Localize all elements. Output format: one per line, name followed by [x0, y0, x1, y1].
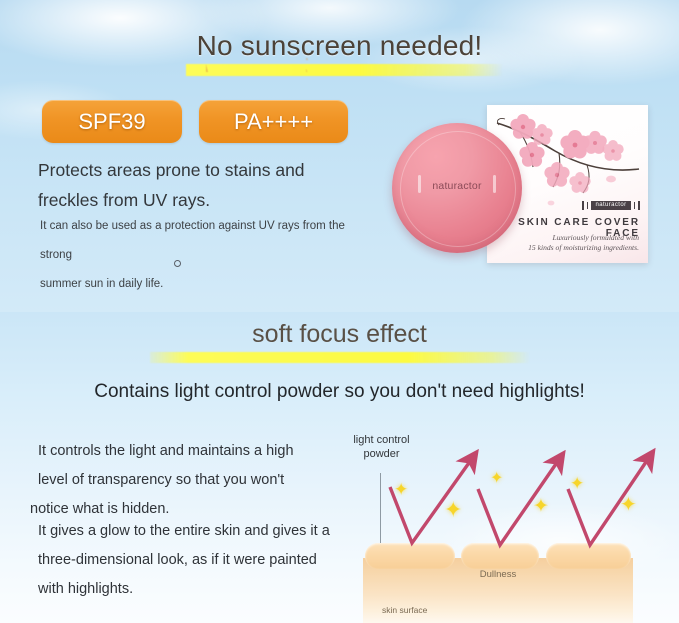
sparkle-icon-5: ✦: [570, 475, 584, 492]
logo-bar-left: [582, 201, 584, 210]
light-control-line-2: level of transparency so that you won't: [30, 466, 330, 495]
compact-tick-right: [493, 175, 496, 193]
uv-paragraph-line-2: freckles from UV rays.: [38, 185, 368, 215]
reflection-arrows: [330, 425, 679, 623]
promo-page: No sunscreen needed! SPF39 PA++++ Protec…: [0, 0, 679, 623]
box-subtitle-line-2: 15 kinds of moisturizing ingredients.: [487, 243, 639, 253]
uv-subtext-line-2: summer sun in daily life.: [40, 270, 370, 299]
uv-subtext-line-1: It can also be used as a protection agai…: [40, 212, 370, 270]
logo-bar-right-thin: [634, 202, 636, 209]
box-subtitle-line-1: Luxuriously formulated with: [487, 233, 639, 243]
sparkle-icon-1: ✦: [394, 481, 408, 498]
headline-highlight-stripe: [186, 64, 503, 76]
pa-badge: PA++++: [199, 100, 348, 143]
product-box-subtitle: Luxuriously formulated with 15 kinds of …: [487, 233, 639, 252]
uv-protection-paragraph: Protects areas prone to stains and freck…: [38, 155, 368, 215]
spf-badge-label: SPF39: [78, 109, 145, 135]
glow-line-2: three-dimensional look, as if it were pa…: [30, 546, 330, 575]
page-headline: No sunscreen needed!: [0, 30, 679, 62]
sparkle-icon-3: ✦: [490, 471, 503, 487]
sparkle-icon-6: ✦: [620, 495, 637, 515]
spf-badge: SPF39: [42, 100, 182, 143]
glow-line-1: It gives a glow to the entire skin and g…: [30, 517, 330, 546]
soft-focus-subheadline: Contains light control powder so you don…: [0, 381, 679, 403]
compact-brand-label: naturactor: [392, 180, 522, 192]
soft-focus-highlight-stripe: [150, 352, 530, 363]
logo-bar-right: [638, 201, 640, 210]
compact-case: naturactor: [392, 123, 522, 253]
glow-line-3: with highlights.: [30, 575, 330, 604]
compact-tick-left: [418, 175, 421, 193]
soft-focus-headline: soft focus effect: [0, 320, 679, 349]
sparkle-icon-2: ✦: [444, 499, 462, 521]
skin-surface-label: skin surface: [382, 603, 427, 617]
glow-paragraph: It gives a glow to the entire skin and g…: [30, 517, 330, 604]
light-control-paragraph: It controls the light and maintains a hi…: [30, 437, 330, 524]
decorative-circle-mark: [174, 260, 181, 267]
pa-badge-label: PA++++: [234, 109, 313, 135]
light-reflection-diagram: light control powder ✦ ✦ ✦ ✦ ✦ ✦ Dulln: [330, 425, 679, 623]
brand-name-chip: naturactor: [591, 201, 630, 210]
logo-bar-left-thin: [587, 202, 589, 209]
uv-paragraph-line-1: Protects areas prone to stains and: [38, 155, 368, 185]
dullness-label: Dullness: [363, 568, 633, 582]
light-control-line-1: It controls the light and maintains a hi…: [30, 437, 330, 466]
sparkle-icon-4: ✦: [533, 497, 549, 516]
product-image: naturactor SKIN CARE COVER FACE Luxuriou…: [380, 95, 670, 280]
uv-protection-subtext: It can also be used as a protection agai…: [40, 212, 370, 299]
